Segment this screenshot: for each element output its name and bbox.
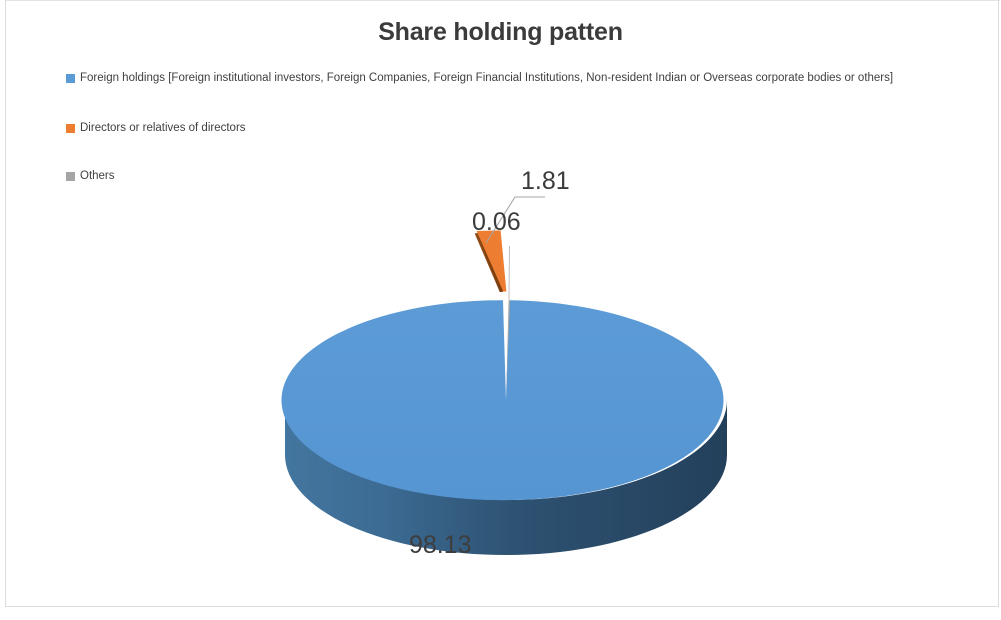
data-label-foreign-holdings: 98.13 [409,531,472,560]
pie-chart-container[interactable]: Share holding patten Foreign holdings [F… [0,0,1001,620]
plot-area: 1.81 0.06 98.13 [0,0,1001,620]
data-label-directors: 1.81 [521,167,570,196]
pie-slice-orange[interactable] [475,230,507,292]
data-label-others: 0.06 [472,208,521,237]
pie-slice-blue-top[interactable] [281,300,723,500]
gray-slice-separator [509,246,510,300]
pie-svg [0,0,1001,620]
